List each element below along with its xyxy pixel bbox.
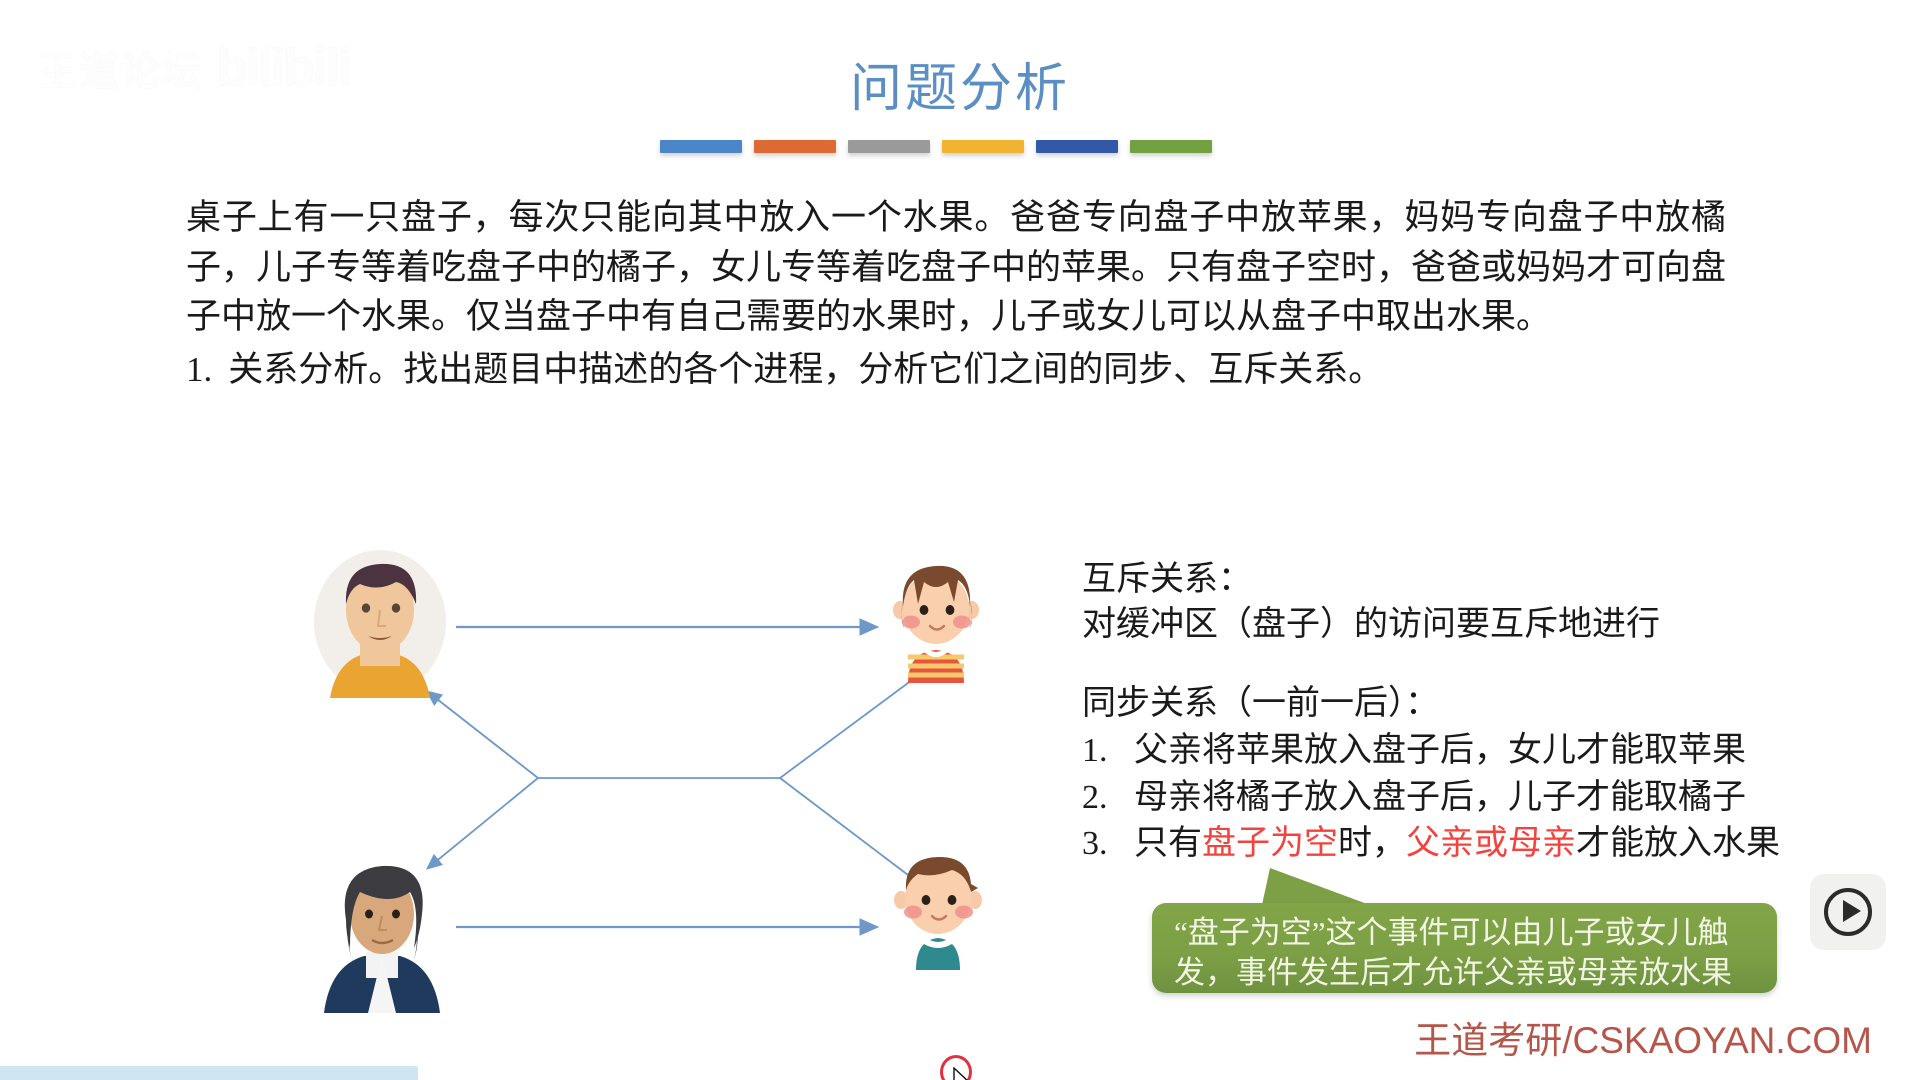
callout-text: “盘子为空”这个事件可以由儿子或女儿触发，事件发生后才允许父亲或母亲放水果 (1174, 913, 1769, 992)
slide-canvas: 王道论坛 bilibili 问题分析 桌子上有一只盘子，每次只能向其中放入一个水… (0, 0, 1920, 1080)
mutex-heading: 互斥关系： (1082, 558, 1822, 603)
bar-darkblue (1036, 140, 1118, 153)
bar-blue (660, 140, 742, 153)
bar-gray (848, 140, 930, 153)
sync-item-3-highlight-parents: 父亲或母亲 (1406, 825, 1576, 862)
sync-item-1: 1. 父亲将苹果放入盘子后，女儿才能取苹果 (1082, 729, 1822, 774)
analysis-step-1: 1.关系分析。找出题目中描述的各个进程，分析它们之间的同步、互斥关系。 (186, 345, 1746, 394)
sync-item-1-text: 父亲将苹果放入盘子后，女儿才能取苹果 (1134, 729, 1746, 774)
video-progress-track[interactable] (0, 1066, 1920, 1080)
sync-item-3: 3. 只有盘子为空时，父亲或母亲才能放入水果 (1082, 822, 1822, 867)
relations-text-column: 互斥关系： 对缓冲区（盘子）的访问要互斥地进行 同步关系（一前一后）： 1. 父… (1082, 558, 1822, 867)
sync-item-3-part-1: 只有 (1134, 825, 1202, 862)
footer-brand-text: 王道考研/CSKAOYAN.COM (1414, 1010, 1872, 1064)
title-underline-bars (660, 140, 1212, 153)
sync-item-3-highlight-plate-empty: 盘子为空 (1202, 825, 1338, 862)
video-progress-fill[interactable] (0, 1066, 418, 1080)
section-spacer (1082, 648, 1822, 682)
process-relation-diagram (280, 530, 1040, 1030)
analysis-step-1-text: 关系分析。找出题目中描述的各个进程，分析它们之间的同步、互斥关系。 (228, 350, 1383, 389)
sync-item-3-text: 只有盘子为空时，父亲或母亲才能放入水果 (1134, 822, 1780, 867)
sync-item-3-part-3: 时， (1338, 825, 1406, 862)
sync-item-2-number: 2. (1082, 776, 1134, 821)
play-triangle-icon[interactable] (1843, 900, 1861, 922)
mutex-text: 对缓冲区（盘子）的访问要互斥地进行 (1082, 603, 1822, 648)
avatar-son (886, 848, 990, 970)
problem-statement-paragraph: 桌子上有一只盘子，每次只能向其中放入一个水果。爸爸专向盘子中放苹果，妈妈专向盘子… (186, 193, 1726, 342)
analysis-step-1-number: 1. (186, 350, 212, 389)
bar-green (1130, 140, 1212, 153)
avatar-father (308, 548, 453, 698)
bar-yellow (942, 140, 1024, 153)
bar-orange (754, 140, 836, 153)
sync-item-2-text: 母亲将橘子放入盘子后，儿子才能取橘子 (1134, 776, 1746, 821)
sync-item-2: 2. 母亲将橘子放入盘子后，儿子才能取橘子 (1082, 776, 1822, 821)
sync-item-3-number: 3. (1082, 822, 1134, 867)
avatar-mother (316, 848, 448, 1013)
sync-item-3-part-5: 才能放入水果 (1576, 825, 1780, 862)
page-title: 问题分析 (0, 46, 1920, 121)
avatar-daughter (884, 558, 988, 683)
sync-item-1-number: 1. (1082, 729, 1134, 774)
sync-heading: 同步关系（一前一后）： (1082, 682, 1822, 727)
